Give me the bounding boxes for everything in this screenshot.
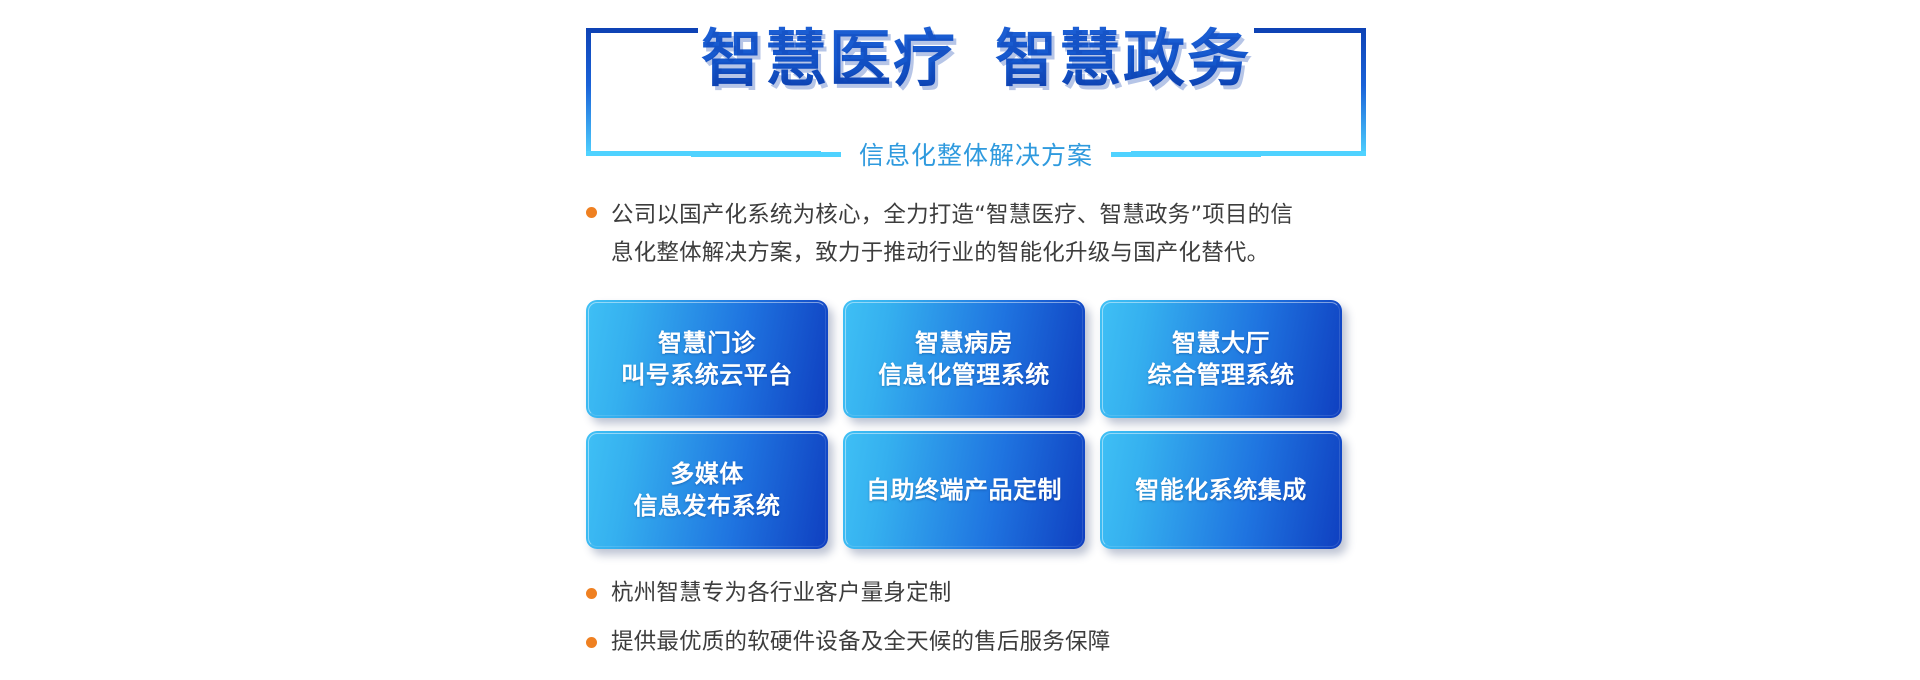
solution-card-label: 智能化系统集成: [1135, 474, 1307, 506]
solution-card-label: 自助终端产品定制: [866, 474, 1062, 506]
card-line-1: 智慧病房: [878, 327, 1050, 359]
solution-card-multimedia[interactable]: 多媒体 信息发布系统: [586, 431, 828, 549]
bullet-dot-icon: [586, 207, 597, 218]
subtitle-row: 信息化整体解决方案: [586, 136, 1366, 172]
solution-card-self-service-terminal[interactable]: 自助终端产品定制: [843, 431, 1085, 549]
solution-card-label: 智慧门诊 叫号系统云平台: [621, 327, 793, 392]
card-line-1: 智能化系统集成: [1135, 474, 1307, 506]
feature-bullet-list: 杭州智慧专为各行业客户量身定制 提供最优质的软硬件设备及全天候的售后服务保障: [586, 578, 1386, 676]
card-line-2: 综合管理系统: [1148, 359, 1295, 391]
card-line-1: 自助终端产品定制: [866, 474, 1062, 506]
promo-banner: 智慧医疗智慧政务 信息化整体解决方案 公司以国产化系统为核心，全力打造“智慧医疗…: [0, 0, 1920, 680]
card-line-1: 智慧大厅: [1148, 327, 1295, 359]
card-line-2: 信息发布系统: [634, 490, 781, 522]
solution-card-system-integration[interactable]: 智能化系统集成: [1100, 431, 1342, 549]
intro-line-1: 公司以国产化系统为核心，全力打造“智慧医疗、智慧政务”项目的信: [611, 196, 1293, 234]
intro-paragraph-text: 公司以国产化系统为核心，全力打造“智慧医疗、智慧政务”项目的信 息化整体解决方案…: [611, 196, 1293, 272]
card-line-1: 智慧门诊: [621, 327, 793, 359]
page-title: 智慧医疗智慧政务: [586, 24, 1366, 93]
page-title-part-1: 智慧医疗: [701, 22, 957, 95]
card-line-2: 信息化管理系统: [878, 359, 1050, 391]
bullet-text: 提供最优质的软硬件设备及全天候的售后服务保障: [611, 627, 1110, 657]
page-subtitle: 信息化整体解决方案: [855, 136, 1097, 172]
title-block: 智慧医疗智慧政务 信息化整体解决方案: [586, 28, 1366, 156]
subtitle-rule-right: [1111, 152, 1261, 157]
list-item: 杭州智慧专为各行业客户量身定制: [586, 578, 1386, 608]
solution-card-smart-hall[interactable]: 智慧大厅 综合管理系统: [1100, 300, 1342, 418]
card-line-1: 多媒体: [634, 458, 781, 490]
solution-card-grid: 智慧门诊 叫号系统云平台 智慧病房 信息化管理系统 智慧大厅 综合管理系统 多媒…: [586, 300, 1346, 549]
page-title-part-2: 智慧政务: [995, 22, 1251, 95]
bullet-text: 杭州智慧专为各行业客户量身定制: [611, 578, 952, 608]
bullet-dot-icon: [586, 637, 597, 648]
solution-card-smart-clinic[interactable]: 智慧门诊 叫号系统云平台: [586, 300, 828, 418]
solution-card-label: 智慧大厅 综合管理系统: [1148, 327, 1295, 392]
subtitle-rule-left: [691, 152, 841, 157]
intro-paragraph: 公司以国产化系统为核心，全力打造“智慧医疗、智慧政务”项目的信 息化整体解决方案…: [586, 196, 1376, 272]
solution-card-label: 多媒体 信息发布系统: [634, 458, 781, 523]
intro-line-2: 息化整体解决方案，致力于推动行业的智能化升级与国产化替代。: [611, 234, 1293, 272]
solution-card-smart-ward[interactable]: 智慧病房 信息化管理系统: [843, 300, 1085, 418]
list-item: 提供最优质的软硬件设备及全天候的售后服务保障: [586, 627, 1386, 657]
card-line-2: 叫号系统云平台: [621, 359, 793, 391]
bullet-dot-icon: [586, 588, 597, 599]
solution-card-label: 智慧病房 信息化管理系统: [878, 327, 1050, 392]
